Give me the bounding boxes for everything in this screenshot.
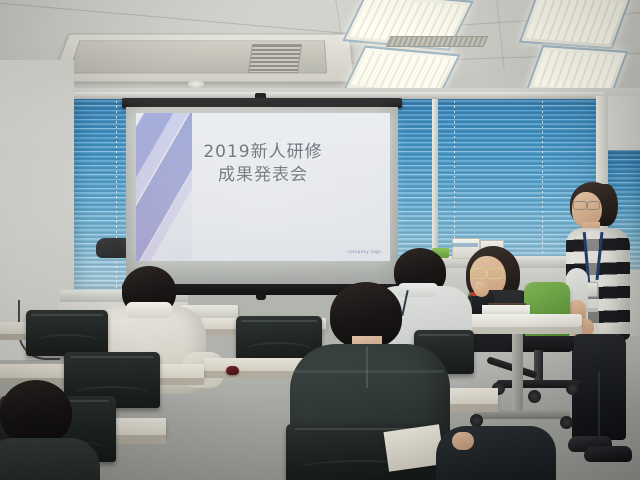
table-edge	[458, 327, 582, 334]
wristwatch	[586, 308, 598, 312]
ac-vent	[248, 44, 302, 73]
computer-mouse[interactable]	[226, 366, 239, 375]
shirt-seam	[366, 346, 368, 388]
trouser-seam	[598, 372, 600, 440]
glasses-icon	[487, 268, 503, 279]
glasses-icon	[470, 268, 487, 279]
attendee-4-hand	[474, 282, 489, 297]
caster-wheel	[566, 382, 579, 395]
ceiling-vent	[386, 36, 488, 47]
attendee-5-body	[0, 438, 100, 480]
attendee-5-head	[0, 380, 72, 446]
caster-wheel	[560, 416, 573, 429]
caster-wheel	[528, 390, 541, 403]
training-room-photo: 2019新人研修 成果発表会 company logo	[0, 0, 640, 480]
slide-body-panel	[192, 113, 390, 261]
shirt-collar	[398, 283, 438, 297]
classroom-chair[interactable]	[26, 310, 108, 356]
glasses-bridge	[485, 272, 488, 273]
smoke-detector-icon	[188, 80, 204, 88]
presenter-shoe	[584, 446, 632, 462]
tissue-box-band	[452, 243, 478, 247]
slide-title: 2019新人研修 成果発表会	[156, 141, 370, 187]
slide-title-line-1: 2019新人研修	[156, 141, 370, 164]
glasses-icon	[587, 201, 600, 210]
slide-title-line-2: 成果発表会	[156, 164, 370, 187]
attendee-6-hand	[452, 432, 474, 450]
projected-slide: 2019新人研修 成果発表会 company logo	[136, 113, 390, 261]
screen-pull-handle[interactable]	[256, 294, 266, 300]
glasses-icon	[573, 201, 587, 210]
table-leg	[512, 334, 523, 412]
mobile-table	[458, 314, 582, 327]
slide-logo: company logo	[348, 249, 381, 254]
chair-column	[534, 350, 543, 384]
shirt-yoke	[294, 370, 444, 373]
shirt-collar	[126, 302, 172, 318]
ceiling-light-panel	[519, 0, 631, 49]
projection-screen: 2019新人研修 成果発表会 company logo	[126, 107, 398, 285]
